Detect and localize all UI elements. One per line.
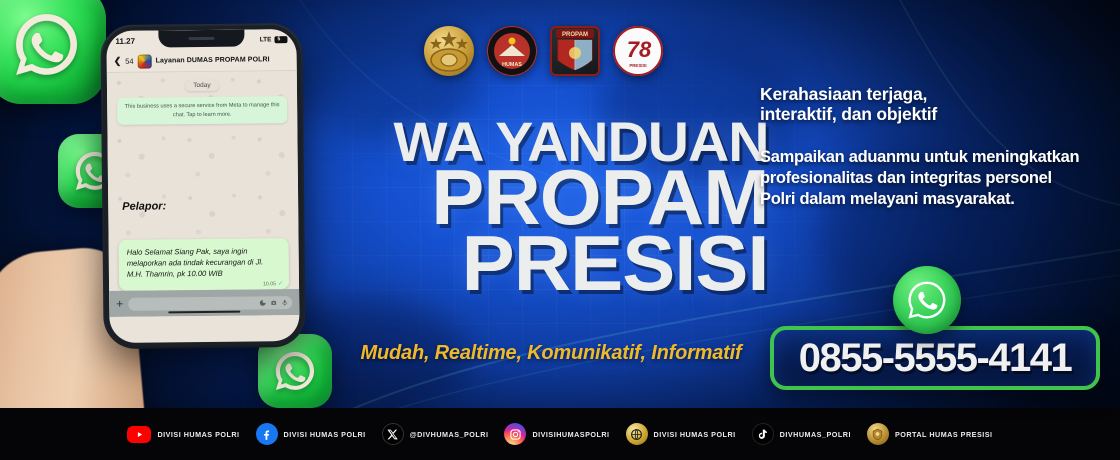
propam-emblem: PROPAM bbox=[550, 26, 600, 76]
social-footer: DIVISI HUMAS POLRI DIVISI HUMAS POLRI @D… bbox=[0, 408, 1120, 460]
whatsapp-logo-large bbox=[0, 0, 106, 104]
social-handle: DIVISIHUMASPOLRI bbox=[532, 430, 609, 439]
social-item-tiktok[interactable]: DIVHUMAS_POLRI bbox=[752, 423, 851, 445]
social-handle: @DIVHUMAS_POLRI bbox=[410, 430, 489, 439]
website-icon[interactable] bbox=[626, 423, 648, 445]
headline-line-3: PRESISI bbox=[314, 231, 769, 297]
battery-icon: 5 bbox=[274, 36, 287, 43]
unread-count: 54 bbox=[125, 57, 133, 66]
chat-body: Today This business uses a secure servic… bbox=[107, 71, 300, 317]
x-twitter-icon[interactable] bbox=[382, 423, 404, 445]
whatsapp-badge-icon[interactable] bbox=[893, 266, 961, 334]
headline-block: WA YANDUAN PROPAM PRESISI bbox=[318, 118, 764, 296]
camera-icon[interactable] bbox=[270, 299, 277, 306]
social-handle: DIVISI HUMAS POLRI bbox=[654, 430, 736, 439]
polri-star-emblem bbox=[424, 26, 474, 76]
sticker-icon[interactable] bbox=[259, 299, 266, 306]
social-item-portal[interactable]: PORTAL HUMAS PRESISI bbox=[867, 423, 993, 445]
message-text: Halo Selamat Siang Pak, saya ingin melap… bbox=[127, 245, 281, 280]
status-network: LTE bbox=[260, 36, 272, 43]
phone-number-box[interactable]: 0855-5555-4141 bbox=[770, 326, 1100, 390]
avatar bbox=[138, 54, 152, 68]
youtube-icon[interactable] bbox=[127, 426, 151, 443]
social-handle: PORTAL HUMAS PRESISI bbox=[895, 430, 993, 439]
phone-notch bbox=[158, 30, 244, 48]
read-receipt-icon: ✓ bbox=[278, 280, 283, 287]
social-item-youtube[interactable]: DIVISI HUMAS POLRI bbox=[127, 426, 239, 443]
phone-number: 0855-5555-4141 bbox=[799, 336, 1072, 381]
social-handle: DIVHUMAS_POLRI bbox=[780, 430, 851, 439]
social-handle: DIVISI HUMAS POLRI bbox=[284, 430, 366, 439]
social-item-website[interactable]: DIVISI HUMAS POLRI bbox=[626, 423, 736, 445]
tiktok-icon[interactable] bbox=[752, 423, 774, 445]
chat-title: Layanan DUMAS PROPAM POLRI bbox=[156, 56, 270, 64]
tagline: Mudah, Realtime, Komunikatif, Informatif bbox=[336, 342, 766, 365]
institution-emblems: HUMAS PROPAM 78 PRESISI bbox=[424, 26, 663, 76]
instagram-icon[interactable] bbox=[504, 423, 526, 445]
back-arrow-icon[interactable]: ❮ bbox=[114, 56, 122, 67]
right-title: Kerahasiaan terjaga, interaktif, dan obj… bbox=[760, 84, 1090, 125]
phone-mockup: 11.27 LTE 5 ❮ 54 Layanan DUMAS PROPAM PO… bbox=[102, 25, 303, 347]
sender-label: Pelapor: bbox=[122, 200, 166, 212]
attach-plus-icon[interactable]: + bbox=[116, 298, 123, 310]
svg-text:PROPAM: PROPAM bbox=[562, 32, 588, 38]
anniversary-78-emblem: 78 PRESISI bbox=[613, 26, 663, 76]
right-text-column: Kerahasiaan terjaga, interaktif, dan obj… bbox=[760, 84, 1090, 211]
facebook-icon[interactable] bbox=[256, 423, 278, 445]
chat-message-bubble: Halo Selamat Siang Pak, saya ingin melap… bbox=[119, 238, 290, 291]
svg-text:PRESISI: PRESISI bbox=[629, 63, 646, 68]
social-item-instagram[interactable]: DIVISIHUMASPOLRI bbox=[504, 423, 609, 445]
message-time: 10.05 bbox=[263, 281, 276, 287]
right-body: Sampaikan aduanmu untuk meningkatkan pro… bbox=[760, 147, 1090, 211]
message-input[interactable] bbox=[128, 296, 292, 311]
promotional-banner: 11.27 LTE 5 ❮ 54 Layanan DUMAS PROPAM PO… bbox=[0, 0, 1120, 460]
microphone-icon[interactable] bbox=[281, 299, 288, 306]
status-time: 11.27 bbox=[115, 36, 135, 45]
svg-text:HUMAS: HUMAS bbox=[502, 62, 522, 68]
chat-header[interactable]: ❮ 54 Layanan DUMAS PROPAM POLRI bbox=[107, 49, 297, 73]
svg-text:78: 78 bbox=[627, 37, 652, 62]
portal-humas-icon[interactable] bbox=[867, 423, 889, 445]
social-handle: DIVISI HUMAS POLRI bbox=[157, 430, 239, 439]
phone-screen: 11.27 LTE 5 ❮ 54 Layanan DUMAS PROPAM PO… bbox=[106, 29, 299, 343]
day-divider: Today bbox=[185, 80, 218, 91]
social-item-facebook[interactable]: DIVISI HUMAS POLRI bbox=[256, 423, 366, 445]
business-notice[interactable]: This business uses a secure service from… bbox=[117, 96, 287, 125]
message-meta: 10.05 ✓ bbox=[263, 280, 283, 287]
social-item-x[interactable]: @DIVHUMAS_POLRI bbox=[382, 423, 489, 445]
humas-polri-emblem: HUMAS bbox=[487, 26, 537, 76]
